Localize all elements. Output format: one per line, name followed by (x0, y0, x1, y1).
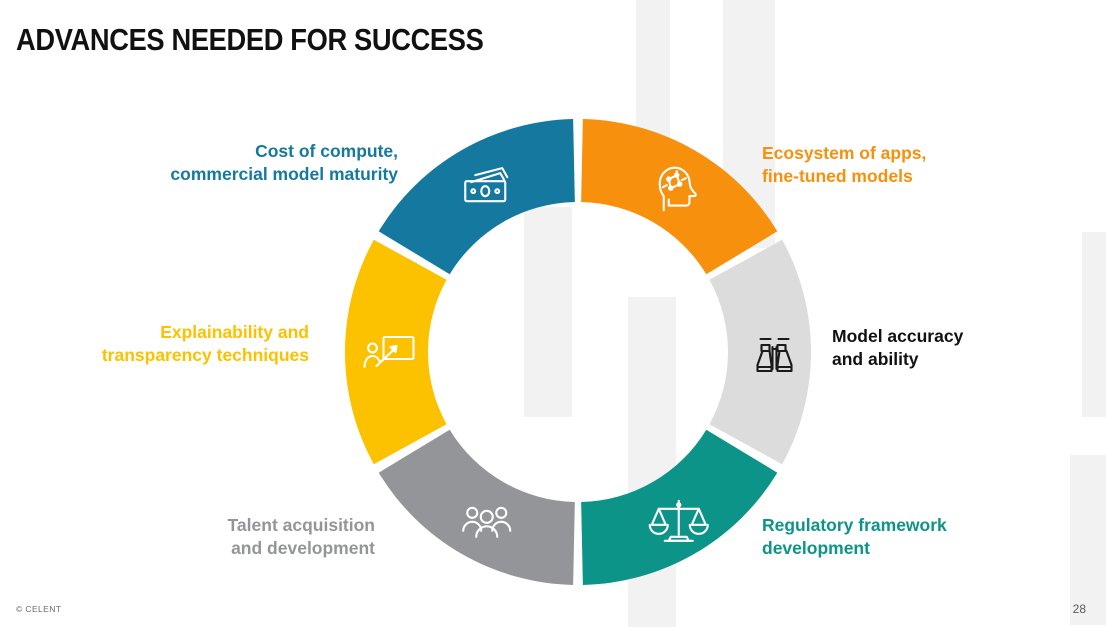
segment-label-ecosystem-line2: fine-tuned models (762, 165, 926, 188)
slide-canvas: ADVANCES NEEDED FOR SUCCESS (0, 0, 1106, 623)
segment-label-cost-line1: Cost of compute, (255, 141, 398, 161)
segment-label-cost: Cost of compute, commercial model maturi… (170, 140, 398, 187)
donut-segment-regulatory[interactable] (581, 430, 777, 585)
segment-label-accuracy: Model accuracy and ability (832, 325, 963, 372)
donut-segment-explainability[interactable] (345, 240, 447, 464)
segment-label-regulatory: Regulatory framework development (762, 514, 947, 561)
segment-label-explainability-line2: transparency techniques (102, 344, 309, 367)
copyright-notice: © CELENT (16, 604, 61, 614)
segment-label-ecosystem: Ecosystem of apps, fine-tuned models (762, 142, 926, 189)
donut-segment-accuracy[interactable] (709, 240, 811, 464)
segment-label-accuracy-line1: Model accuracy (832, 326, 963, 346)
segment-label-explainability: Explainability and transparency techniqu… (102, 321, 309, 368)
segment-label-talent-line2: and development (228, 537, 375, 560)
background-bar (1082, 232, 1106, 417)
segment-label-explainability-line1: Explainability and (160, 322, 309, 342)
page-title: ADVANCES NEEDED FOR SUCCESS (16, 22, 483, 58)
background-bar (1070, 455, 1106, 625)
segment-label-cost-line2: commercial model maturity (170, 163, 398, 186)
segment-label-accuracy-line2: and ability (832, 348, 963, 371)
segment-label-talent: Talent acquisition and development (228, 514, 375, 561)
donut-segment-talent[interactable] (379, 430, 575, 585)
segment-label-talent-line1: Talent acquisition (228, 515, 375, 535)
donut-segment-group (345, 119, 811, 585)
segment-label-ecosystem-line1: Ecosystem of apps, (762, 143, 926, 163)
segment-label-regulatory-line1: Regulatory framework (762, 515, 947, 535)
page-number: 28 (1073, 602, 1086, 616)
segment-label-regulatory-line2: development (762, 537, 947, 560)
background-bar (524, 207, 572, 417)
